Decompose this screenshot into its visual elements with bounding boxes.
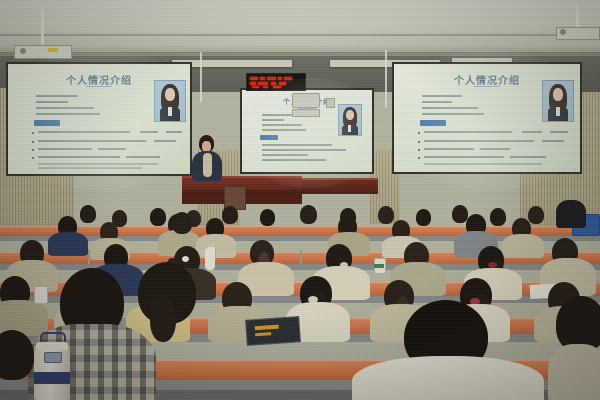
portrait-face xyxy=(553,88,563,101)
ceiling xyxy=(0,0,600,46)
student-head xyxy=(300,205,317,224)
bullet-line xyxy=(424,148,474,150)
wall-speaker xyxy=(292,93,320,108)
wall-control-panel[interactable] xyxy=(326,98,335,108)
student-head xyxy=(490,208,506,226)
bullet-line xyxy=(154,140,176,142)
bullet-line xyxy=(510,156,546,158)
bullet-line xyxy=(38,140,146,142)
info-line xyxy=(36,95,78,97)
student-head xyxy=(378,206,394,224)
slide-section-header-right xyxy=(420,120,446,126)
bullet-line xyxy=(424,156,504,158)
bullet-dot xyxy=(418,149,420,151)
slide-section-header-left xyxy=(34,120,60,126)
thermos-gauge xyxy=(44,352,62,363)
clear-bottle xyxy=(205,248,215,270)
info-line xyxy=(36,107,94,109)
info-line xyxy=(422,113,484,115)
bullet-line xyxy=(522,131,542,133)
projection-screen-right: 个人情况介绍 xyxy=(392,62,582,174)
bullet-line xyxy=(98,148,126,150)
bullet-line xyxy=(542,140,564,142)
bullet-line xyxy=(424,131,512,133)
bullet-line xyxy=(550,131,568,133)
student-head xyxy=(528,206,544,224)
screen-support-pole-right xyxy=(385,50,387,108)
bullet-line xyxy=(262,159,326,161)
student-torso xyxy=(556,200,586,228)
bullet-line xyxy=(262,154,308,156)
podium-desk-right-section xyxy=(302,178,378,194)
bullet-dot xyxy=(418,157,420,159)
info-line xyxy=(262,124,302,126)
portrait-collar xyxy=(168,107,172,116)
student-torso xyxy=(196,234,236,258)
student-torso xyxy=(502,234,544,258)
presenter-inner-shirt xyxy=(203,153,212,177)
bullet-line xyxy=(38,148,92,150)
slide-title-rule-left xyxy=(86,86,112,87)
thermos-band xyxy=(34,372,70,384)
bullet-line xyxy=(262,144,332,146)
bullet-line xyxy=(38,167,142,169)
screen-support-pole xyxy=(200,52,202,102)
slide-portrait-photo-center xyxy=(338,104,362,136)
water-cup-lid xyxy=(205,243,215,247)
info-line xyxy=(262,129,306,131)
foreground-student-torso-right xyxy=(352,356,544,400)
bullet-line xyxy=(38,131,130,133)
bullet-line xyxy=(480,148,510,150)
portrait-face xyxy=(165,88,175,101)
led-display xyxy=(246,73,306,91)
bullet-line xyxy=(424,140,534,142)
bullet-line xyxy=(262,149,346,151)
book-title-line xyxy=(255,332,271,336)
info-line xyxy=(262,119,284,121)
ceiling-seam xyxy=(0,34,600,36)
portrait-collar xyxy=(348,125,351,132)
student-head xyxy=(172,212,192,234)
bullet-dot xyxy=(418,141,420,143)
seat-divider xyxy=(300,250,302,264)
student-head xyxy=(416,209,431,226)
info-line xyxy=(422,95,462,97)
projector-label-left xyxy=(48,48,58,52)
bullet-line xyxy=(166,131,182,133)
slide-title-rule-right xyxy=(474,86,500,87)
bullet-dot xyxy=(32,149,34,151)
bullet-line xyxy=(126,156,160,158)
foreground-student-torso-far-right xyxy=(548,344,600,400)
water-cup xyxy=(34,286,48,304)
student-head xyxy=(260,209,275,226)
projector-lens-right xyxy=(560,29,566,35)
bullet-line xyxy=(38,156,120,158)
info-line xyxy=(262,114,292,116)
student-head xyxy=(150,208,166,226)
book-title-line xyxy=(255,325,279,331)
bullet-dot xyxy=(418,132,420,134)
bullet-line xyxy=(38,163,158,165)
student-torso xyxy=(48,232,88,256)
cup-label xyxy=(374,264,384,268)
foreground-ponytail-center xyxy=(150,296,176,342)
info-line xyxy=(36,113,100,115)
student-head xyxy=(80,205,96,223)
info-line xyxy=(36,101,68,103)
bullet-dot xyxy=(32,157,34,159)
wall-equipment-shelf xyxy=(292,109,320,117)
info-line xyxy=(422,107,478,109)
bullet-line xyxy=(140,131,158,133)
info-line xyxy=(422,101,452,103)
slide-portrait-photo-left xyxy=(154,80,186,122)
bullet-dot xyxy=(32,132,34,134)
slide-portrait-photo-right xyxy=(542,80,574,122)
lecture-hall-photo: 个人情况介绍 个人情况介绍 xyxy=(0,0,600,400)
projector-mount-pole-right xyxy=(576,6,579,28)
textbook xyxy=(245,316,301,346)
portrait-collar xyxy=(556,107,560,116)
student-head xyxy=(222,206,238,224)
slide-section-header-center xyxy=(260,135,278,140)
bullet-line xyxy=(424,163,542,165)
projection-screen-left: 个人情况介绍 xyxy=(6,62,192,176)
hair-accessory xyxy=(182,256,189,262)
projector-mount-pole-left xyxy=(41,8,44,46)
projector-lens-left xyxy=(20,48,26,54)
bullet-dot xyxy=(32,141,34,143)
portrait-face xyxy=(346,110,354,120)
